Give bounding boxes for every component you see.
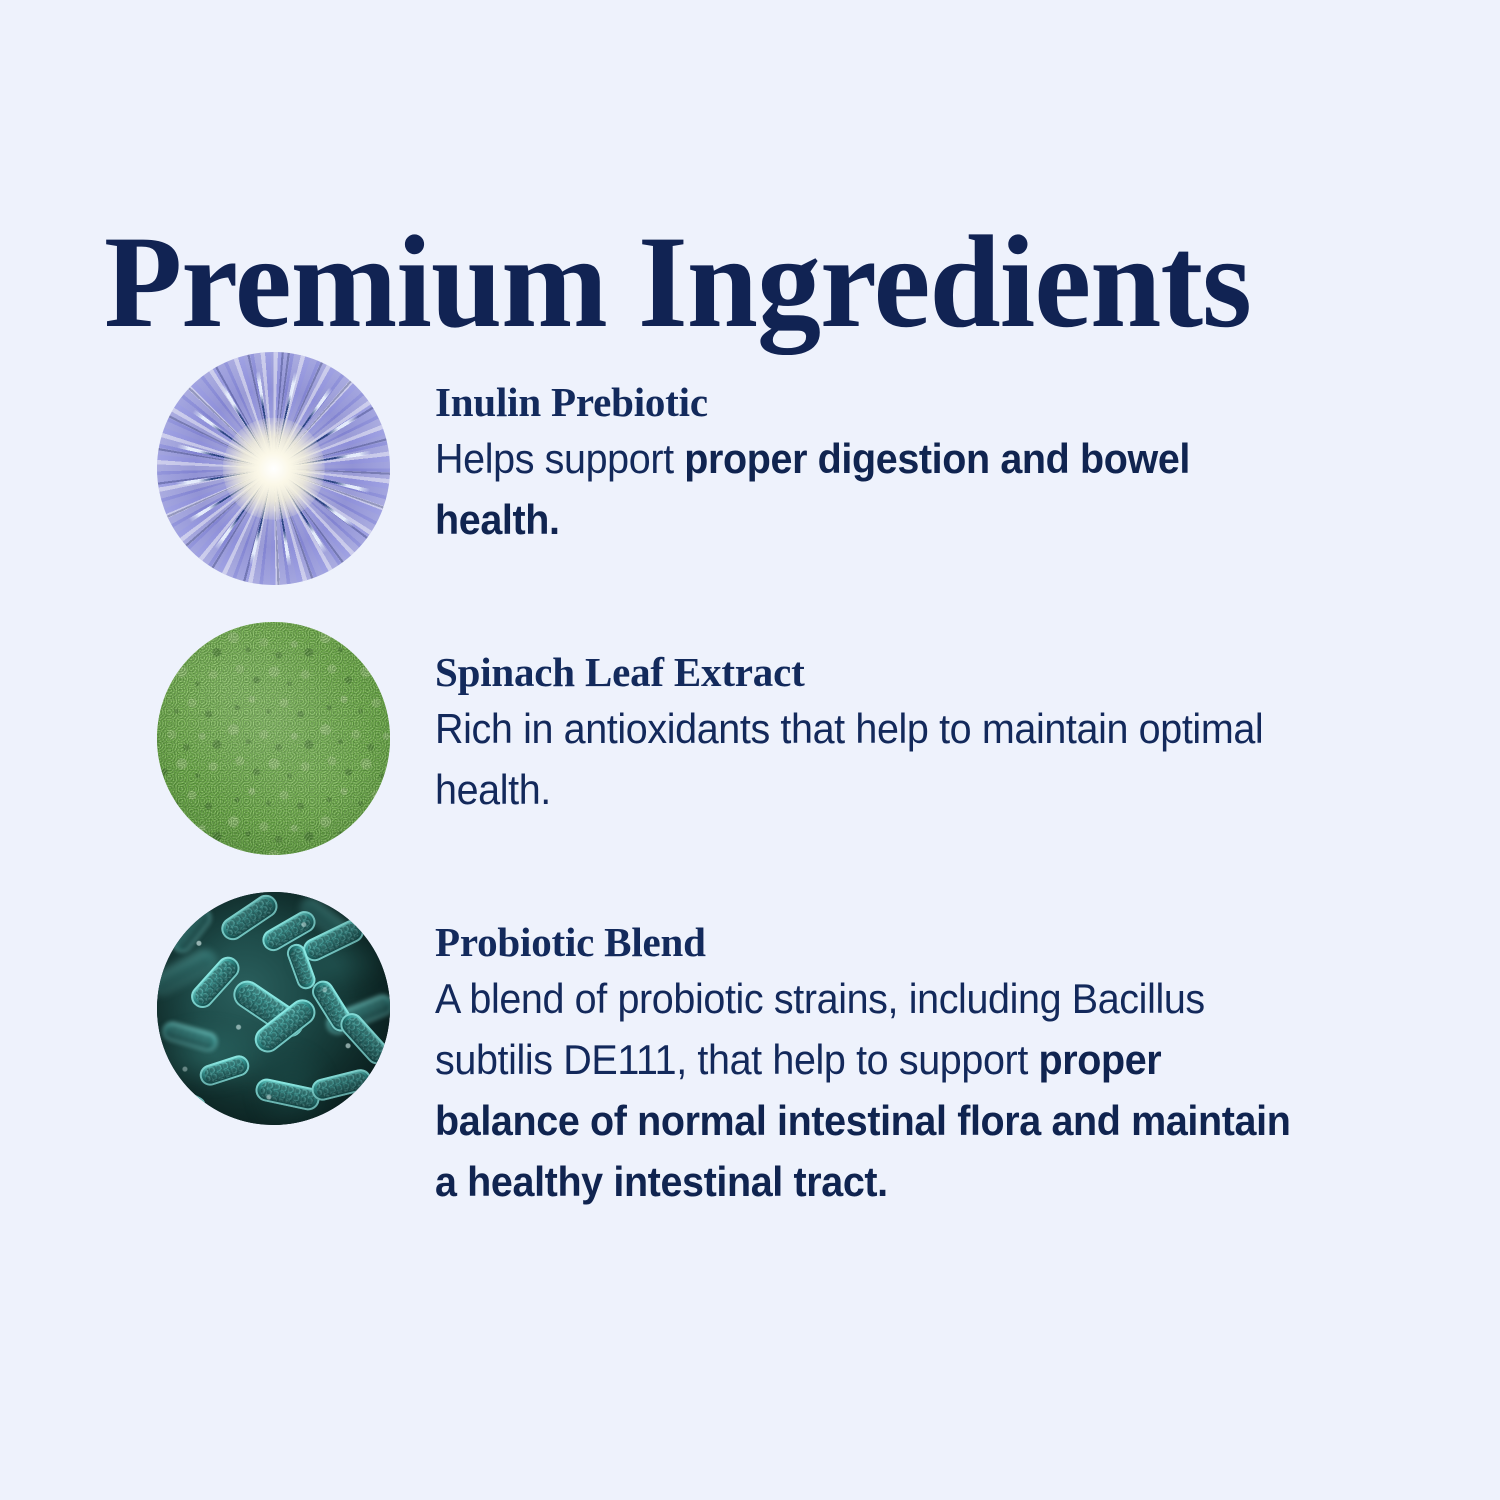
page-title: Premium Ingredients bbox=[104, 216, 1251, 348]
spinach-powder-photo bbox=[157, 622, 390, 855]
list-item: Spinach Leaf Extract Rich in antioxidant… bbox=[0, 622, 1500, 855]
chicory-flower-photo bbox=[157, 352, 390, 585]
probiotic-bacteria-photo bbox=[157, 892, 390, 1125]
bacteria-vignette bbox=[157, 892, 390, 1125]
spinach-powder-artwork bbox=[157, 622, 390, 855]
chicory-flower-artwork bbox=[157, 352, 390, 585]
powder-shading bbox=[157, 622, 390, 855]
ingredient-description: A blend of probiotic strains, including … bbox=[435, 969, 1312, 1213]
ingredient-description: Rich in antioxidants that help to mainta… bbox=[435, 699, 1312, 821]
ingredient-list: Inulin Prebiotic Helps support proper di… bbox=[0, 352, 1500, 1249]
ingredient-description: Helps support proper digestion and bowel… bbox=[435, 429, 1312, 551]
ingredient-text-block: Inulin Prebiotic Helps support proper di… bbox=[390, 352, 1315, 551]
flower-center bbox=[222, 417, 325, 520]
list-item: Inulin Prebiotic Helps support proper di… bbox=[0, 352, 1500, 585]
ingredient-name: Inulin Prebiotic bbox=[435, 380, 1315, 426]
ingredients-infographic: Premium Ingredients Inulin Prebiotic Hel… bbox=[0, 0, 1500, 1500]
ingredient-name: Spinach Leaf Extract bbox=[435, 650, 1315, 696]
ingredient-text-block: Spinach Leaf Extract Rich in antioxidant… bbox=[390, 622, 1315, 821]
ingredient-text-block: Probiotic Blend A blend of probiotic str… bbox=[390, 892, 1315, 1212]
ingredient-name: Probiotic Blend bbox=[435, 920, 1315, 966]
list-item: Probiotic Blend A blend of probiotic str… bbox=[0, 892, 1500, 1212]
probiotic-bacteria-artwork bbox=[157, 892, 390, 1125]
